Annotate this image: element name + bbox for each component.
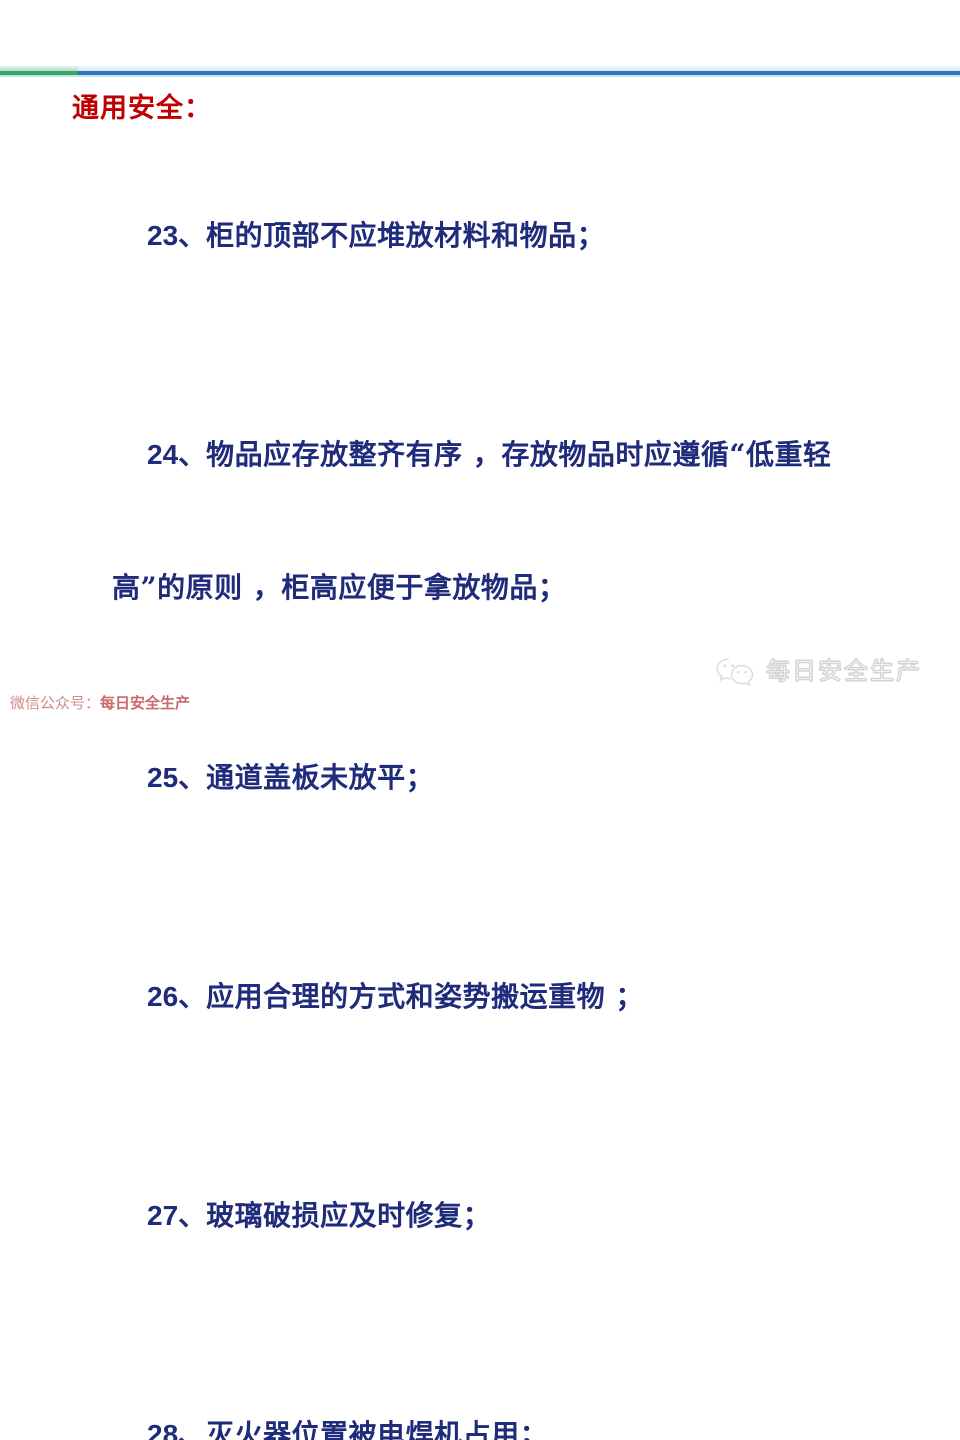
wechat-icon [714, 656, 756, 686]
slide-content: 通用安全： 23、柜的顶部不应堆放材料和物品； 24、物品应存放整齐有序 ，存放… [0, 92, 960, 1440]
watermark-left-account: 每日安全生产 [100, 694, 190, 712]
divider-underglow [0, 75, 960, 77]
item-text: 物品应存放整齐有序 ，存放物品时应遵循“低重轻 [206, 438, 831, 471]
item-number: 23、 [147, 220, 206, 251]
item-text: 通道盖板未放平； [206, 761, 434, 794]
item-number: 24、 [147, 439, 206, 470]
item-number: 26、 [147, 981, 206, 1012]
list-item: 28、灭火器位置被电焊机占用； [0, 1337, 960, 1440]
item-number: 27、 [147, 1200, 206, 1231]
item-text: 玻璃破损应及时修复； [206, 1199, 491, 1232]
list-item: 24、物品应存放整齐有序 ，存放物品时应遵循“低重轻 高”的原则 ，柜高应便于拿… [0, 357, 960, 658]
list-item: 27、玻璃破损应及时修复； [0, 1118, 960, 1315]
item-number: 28、 [147, 1419, 206, 1440]
section-title: 通用安全： [72, 92, 960, 124]
item-number: 25、 [147, 762, 206, 793]
list-item: 23、柜的顶部不应堆放材料和物品； [0, 138, 960, 335]
header-divider [0, 65, 960, 77]
list-item: 26、应用合理的方式和姿势搬运重物 ； [0, 899, 960, 1096]
item-text: 柜的顶部不应堆放材料和物品； [206, 219, 605, 252]
item-text-continued: 高”的原则 ，柜高应便于拿放物品； [112, 574, 960, 602]
watermark-left-prefix: 微信公众号： [10, 694, 100, 712]
safety-item-list: 23、柜的顶部不应堆放材料和物品； 24、物品应存放整齐有序 ，存放物品时应遵循… [0, 138, 960, 1440]
item-text: 灭火器位置被电焊机占用； [206, 1418, 548, 1440]
item-text: 应用合理的方式和姿势搬运重物 ； [206, 980, 644, 1013]
watermark-bottom-right: 每日安全生产 [714, 656, 922, 686]
slide-canvas: 通用安全： 23、柜的顶部不应堆放材料和物品； 24、物品应存放整齐有序 ，存放… [0, 0, 960, 720]
watermark-bottom-left: 微信公众号：每日安全生产 [10, 696, 190, 711]
watermark-right-account: 每日安全生产 [766, 659, 922, 683]
